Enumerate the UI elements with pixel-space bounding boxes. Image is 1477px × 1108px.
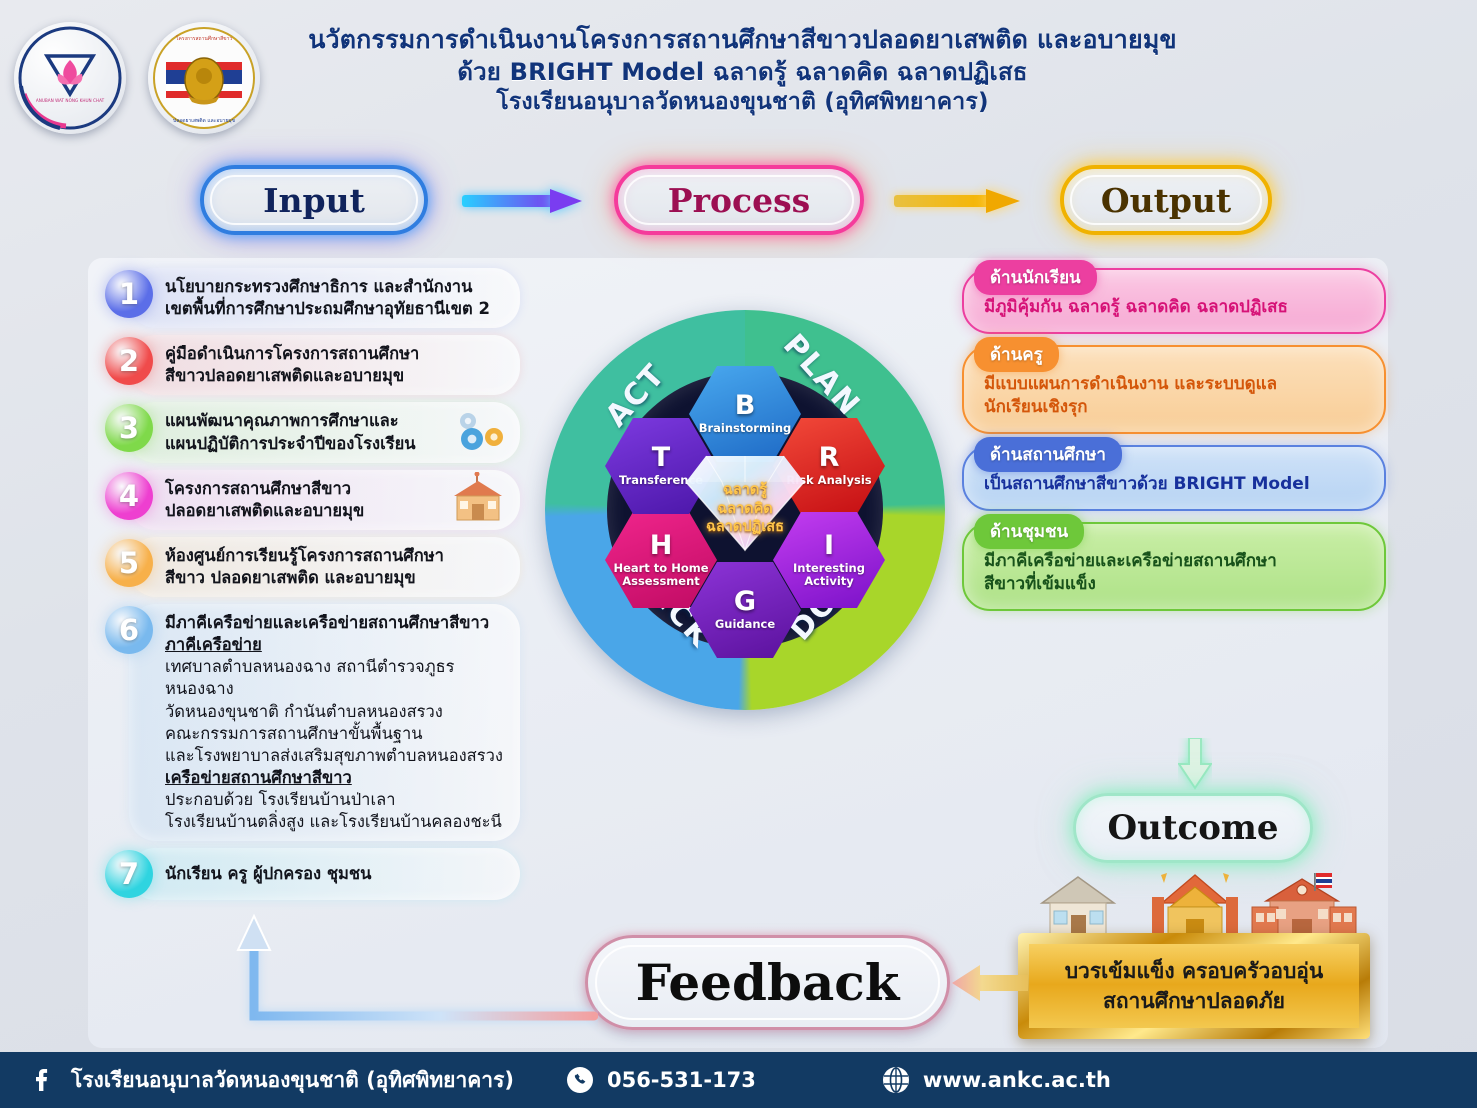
footer-facebook-text: โรงเรียนอนุบาลวัดหนองขุนชาติ (อุทิศพิทยา…: [71, 1064, 514, 1097]
output-pill[interactable]: Output: [1060, 165, 1272, 235]
input-line: นักเรียน ครู ผู้ปกครอง ชุมชน: [165, 863, 506, 885]
input-item-4[interactable]: 4โครงการสถานศึกษาสีขาวปลอดยาเสพติดและอบา…: [105, 470, 520, 530]
pdca-bright-wheel: PLAN DO CHECK ACT B Brainstorming R Risk…: [545, 310, 945, 710]
input-text-7: นักเรียน ครู ผู้ปกครอง ชุมชน: [129, 848, 520, 900]
input-line: เขตพื้นที่การศึกษาประถมศึกษาอุทัยธานีเขต…: [165, 298, 506, 320]
outcome-gold-box: บวรเข้มแข็ง ครอบครัวอบอุ่น สถานศึกษาปลอด…: [1018, 933, 1370, 1039]
output-card-4[interactable]: ด้านชุมชนมีภาคีเครือข่ายและเครือข่ายสถาน…: [962, 522, 1386, 611]
input-badge-1: 1: [105, 270, 153, 318]
flow-arrow-1-icon: [462, 189, 582, 213]
svg-text:ปลอดยาเสพติด และอบายมุข: ปลอดยาเสพติด และอบายมุข: [173, 117, 235, 124]
input-item-1[interactable]: 1นโยบายกระทรวงศึกษาธิการ และสำนักงานเขตพ…: [105, 268, 520, 328]
input-subline: ภาคีเครือข่าย: [165, 634, 506, 656]
hex-name: Brainstorming: [699, 422, 792, 435]
flow-arrow-2-icon: [894, 189, 1024, 213]
logo-group: ANUBAN WAT NONG KHUN CHAT โครงการสถานศึก…: [14, 22, 260, 134]
output-tag-4: ด้านชุมชน: [974, 514, 1084, 549]
input-subline: คณะกรรมการสถานศึกษาขั้นพื้นฐาน: [165, 723, 506, 745]
input-text-1: นโยบายกระทรวงศึกษาธิการ และสำนักงานเขตพื…: [129, 268, 520, 328]
svg-text:โครงการสถานศึกษาสีขาว: โครงการสถานศึกษาสีขาว: [176, 35, 233, 42]
hex-letter: G: [734, 588, 756, 615]
input-line: สีขาวปลอดยาเสพติดและอบายมุข: [165, 365, 506, 387]
input-text-4: โครงการสถานศึกษาสีขาวปลอดยาเสพติดและอบาย…: [129, 470, 520, 530]
gold-line-2: สถานศึกษาปลอดภัย: [1103, 986, 1285, 1016]
school-building-icon: [448, 472, 508, 528]
outcome-pill[interactable]: Outcome: [1073, 793, 1313, 863]
diamond-gem-icon: ฉลาดรู้ ฉลาดคิด ฉลาดปฏิเสธ: [689, 444, 801, 574]
input-item-6[interactable]: 6มีภาคีเครือข่ายและเครือข่ายสถานศึกษาสีข…: [105, 604, 520, 841]
input-text-2: คู่มือดำเนินการโครงการสถานศึกษาสีขาวปลอด…: [129, 335, 520, 395]
page-title: นวัตกรรมการดำเนินงานโครงการสถานศึกษาสีขา…: [255, 24, 1230, 118]
footer-bar: โรงเรียนอนุบาลวัดหนองขุนชาติ (อุทิศพิทยา…: [0, 1052, 1477, 1108]
input-line: มีภาคีเครือข่ายและเครือข่ายสถานศึกษาสีขา…: [165, 612, 506, 634]
feedback-label: Feedback: [636, 953, 900, 1012]
input-pill[interactable]: Input: [200, 165, 428, 235]
title-line-1: นวัตกรรมการดำเนินงานโครงการสถานศึกษาสีขา…: [255, 24, 1230, 57]
process-pill[interactable]: Process: [614, 165, 864, 235]
output-line: มีภาคีเครือข่ายและเครือข่ายสถานศึกษา: [984, 550, 1366, 573]
output-card-1[interactable]: ด้านนักเรียนมีภูมิคุ้มกัน ฉลาดรู้ ฉลาดคิ…: [962, 268, 1386, 334]
footer-website-text: www.ankc.ac.th: [923, 1068, 1111, 1092]
input-line: นโยบายกระทรวงศึกษาธิการ และสำนักงาน: [165, 276, 506, 298]
input-line: ห้องศูนย์การเรียนรู้โครงการสถานศึกษา: [165, 545, 506, 567]
output-line: เป็นสถานศึกษาสีขาวด้วย BRIGHT Model: [984, 473, 1366, 496]
footer-facebook[interactable]: โรงเรียนอนุบาลวัดหนองขุนชาติ (อุทิศพิทยา…: [28, 1064, 514, 1097]
output-line: มีแบบแผนการดำเนินงาน และระบบดูแล: [984, 373, 1366, 396]
gears-icon: [450, 409, 508, 457]
flow-header: Input Process Output: [0, 165, 1477, 247]
thai-temple-icon: [1152, 873, 1238, 937]
gem-line-1: ฉลาดรู้: [706, 481, 784, 500]
input-subline: วัดหนองขุนชาติ กำนันตำบลหนองสรวง: [165, 701, 506, 723]
school-building-icon: [1252, 879, 1356, 937]
gem-line-2: ฉลาดคิด: [706, 500, 784, 519]
input-item-5[interactable]: 5ห้องศูนย์การเรียนรู้โครงการสถานศึกษาสีข…: [105, 537, 520, 597]
school-lotus-logo: ANUBAN WAT NONG KHUN CHAT: [14, 22, 126, 134]
feedback-loop-arrow-icon: [178, 900, 598, 1040]
hex-letter: R: [819, 444, 840, 471]
input-line: คู่มือดำเนินการโครงการสถานศึกษา: [165, 343, 506, 365]
input-subline: และโรงพยาบาลส่งเสริมสุขภาพตำบลหนองสรวง: [165, 745, 506, 767]
title-line-2: ด้วย BRIGHT Model ฉลาดรู้ ฉลาดคิด ฉลาดปฏ…: [255, 57, 1230, 88]
hex-letter: I: [824, 532, 834, 559]
hex-letter: H: [650, 532, 673, 559]
house-icon: [1042, 877, 1114, 937]
title-line-3: โรงเรียนอนุบาลวัดหนองขุนชาติ (อุทิศพิทยา…: [255, 88, 1230, 118]
output-tag-1: ด้านนักเรียน: [974, 260, 1097, 295]
phone-icon: [566, 1066, 594, 1094]
output-card-2[interactable]: ด้านครูมีแบบแผนการดำเนินงาน และระบบดูแลน…: [962, 345, 1386, 434]
input-item-2[interactable]: 2คู่มือดำเนินการโครงการสถานศึกษาสีขาวปลอ…: [105, 335, 520, 395]
hex-name: Guidance: [715, 618, 775, 631]
input-subline: เครือข่ายสถานศึกษาสีขาว: [165, 767, 506, 789]
facebook-icon: [28, 1065, 58, 1095]
buildings-illustration: [1030, 873, 1360, 939]
globe-icon: [882, 1066, 910, 1094]
input-text-6: มีภาคีเครือข่ายและเครือข่ายสถานศึกษาสีขา…: [129, 604, 520, 841]
feedback-pill[interactable]: Feedback: [585, 935, 950, 1030]
input-badge-7: 7: [105, 850, 153, 898]
input-subline: โรงเรียนบ้านตลิ่งสูง และโรงเรียนบ้านคลอง…: [165, 811, 506, 833]
gem-line-3: ฉลาดปฏิเสธ: [706, 518, 784, 537]
input-item-3[interactable]: 3แผนพัฒนาคุณภาพการศึกษาและแผนปฏิบัติการป…: [105, 402, 520, 462]
output-line: มีภูมิคุ้มกัน ฉลาดรู้ ฉลาดคิด ฉลาดปฏิเสธ: [984, 296, 1366, 319]
hex-letter: T: [652, 444, 670, 471]
svg-text:ANUBAN WAT NONG KHUN CHAT: ANUBAN WAT NONG KHUN CHAT: [36, 98, 105, 103]
footer-phone[interactable]: 056-531-173: [566, 1066, 756, 1094]
input-text-5: ห้องศูนย์การเรียนรู้โครงการสถานศึกษาสีขา…: [129, 537, 520, 597]
hex-letter: B: [735, 392, 756, 419]
input-text-3: แผนพัฒนาคุณภาพการศึกษาและแผนปฏิบัติการปร…: [129, 402, 520, 462]
feedback-left-arrow-icon: [950, 963, 1028, 1003]
output-list: ด้านนักเรียนมีภูมิคุ้มกัน ฉลาดรู้ ฉลาดคิ…: [962, 268, 1386, 622]
bright-hex-group: B Brainstorming R Risk Analysis I Intere…: [607, 372, 883, 648]
footer-phone-text: 056-531-173: [607, 1068, 756, 1092]
input-line: สีขาว ปลอดยาเสพติด และอบายมุข: [165, 567, 506, 589]
input-subline: ประกอบด้วย โรงเรียนบ้านป่าเลา: [165, 789, 506, 811]
gold-line-1: บวรเข้มแข็ง ครอบครัวอบอุ่น: [1065, 956, 1324, 986]
input-badge-4: 4: [105, 472, 153, 520]
output-tag-2: ด้านครู: [974, 337, 1059, 372]
output-line: สีขาวที่เข้มแข็ง: [984, 573, 1366, 596]
white-school-project-emblem: โครงการสถานศึกษาสีขาว ปลอดยาเสพติด และอบ…: [148, 22, 260, 134]
input-badge-6: 6: [105, 606, 153, 654]
input-badge-2: 2: [105, 337, 153, 385]
footer-website[interactable]: www.ankc.ac.th: [882, 1066, 1111, 1094]
input-item-7[interactable]: 7นักเรียน ครู ผู้ปกครอง ชุมชน: [105, 848, 520, 902]
input-badge-5: 5: [105, 539, 153, 587]
input-list: 1นโยบายกระทรวงศึกษาธิการ และสำนักงานเขตพ…: [105, 268, 520, 909]
down-arrow-icon: [1178, 738, 1212, 790]
output-tag-3: ด้านสถานศึกษา: [974, 437, 1122, 472]
input-subline: เทศบาลตำบลหนองฉาง สถานีตำรวจภูธรหนองฉาง: [165, 656, 506, 700]
output-card-3[interactable]: ด้านสถานศึกษาเป็นสถานศึกษาสีขาวด้วย BRIG…: [962, 445, 1386, 511]
output-line: นักเรียนเชิงรุก: [984, 396, 1366, 419]
